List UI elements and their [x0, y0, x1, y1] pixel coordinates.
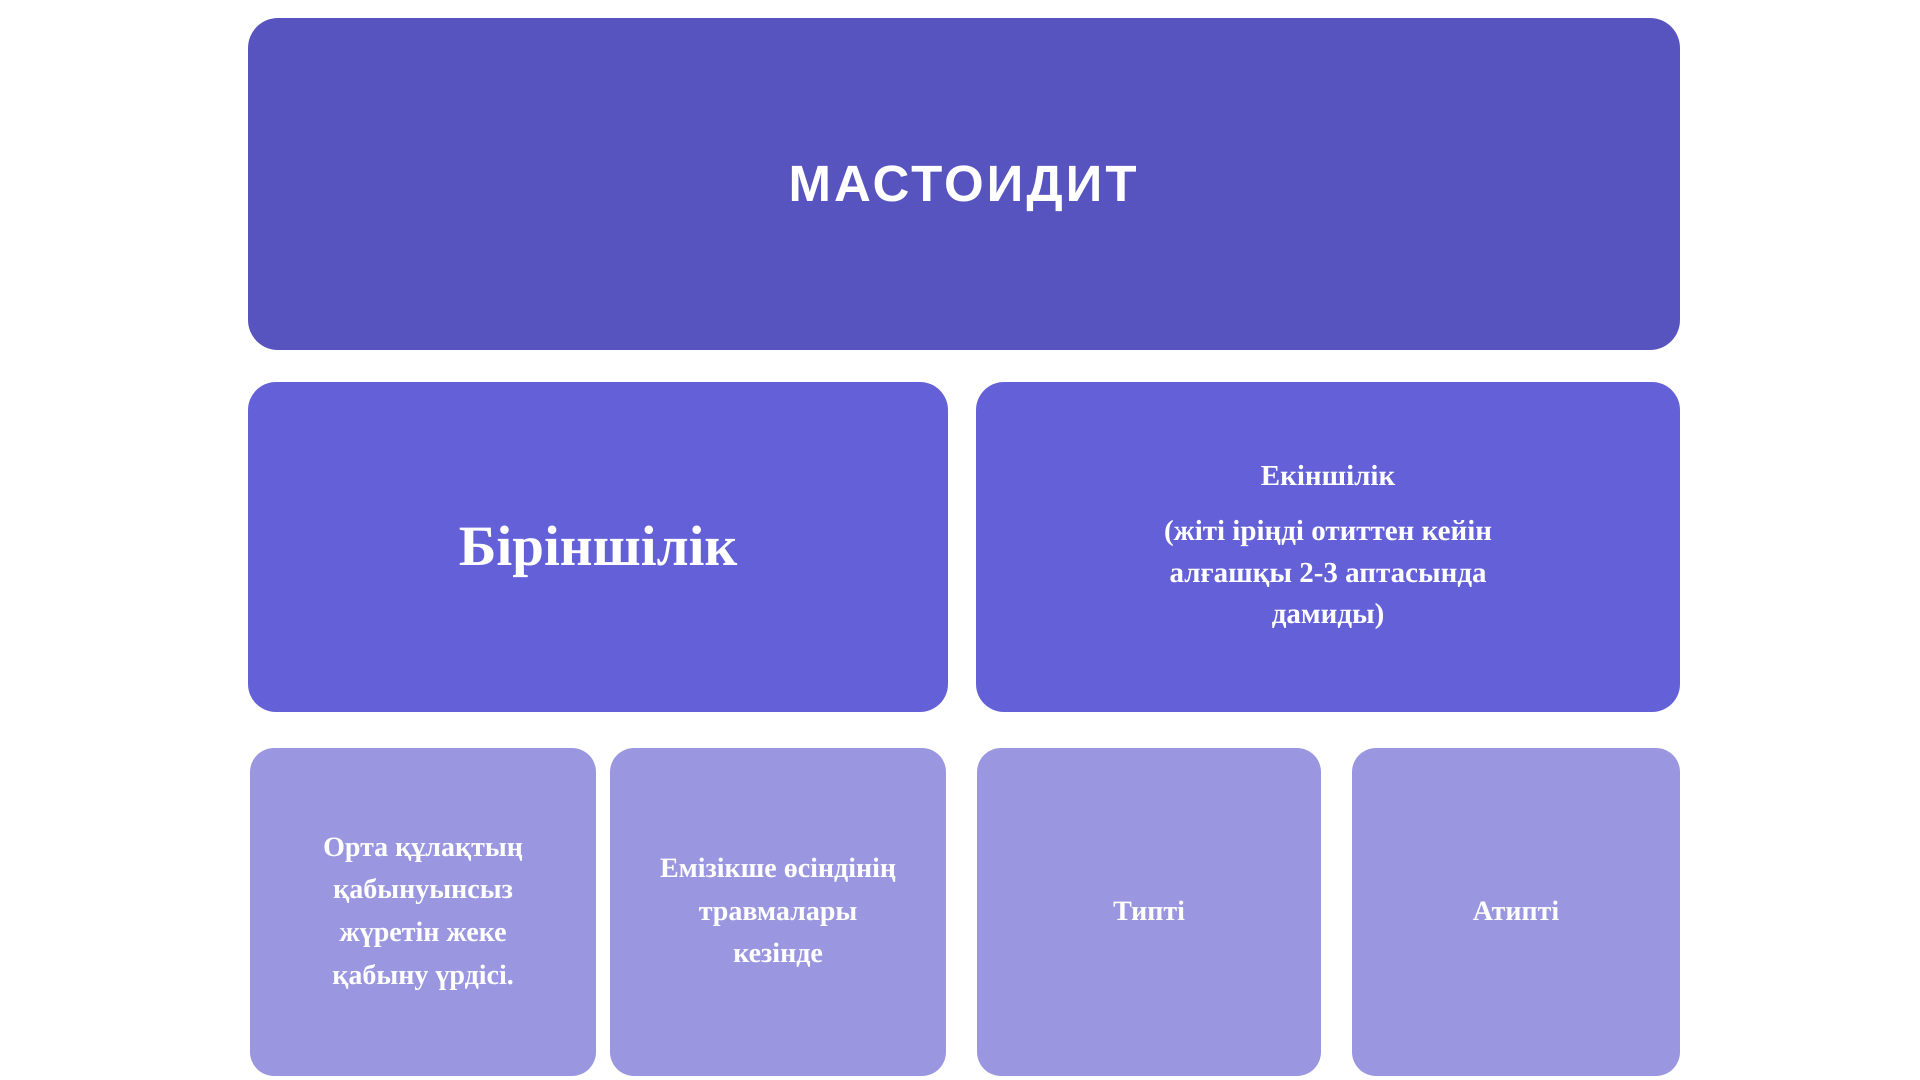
- leaf-node-3-label: Типті: [1113, 891, 1185, 934]
- leaf-node-4-label: Атипті: [1473, 891, 1559, 934]
- branch-node-secondary-sublabel: (жіті іріңді отиттен кейін алғашқы 2-3 а…: [1113, 511, 1543, 635]
- root-node-label: МАСТОИДИТ: [789, 154, 1140, 214]
- leaf-node-2: Емізікше өсіндінің травмалары кезінде: [610, 748, 946, 1076]
- root-node-mastoiditis: МАСТОИДИТ: [248, 18, 1680, 350]
- branch-node-primary: Біріншілік: [248, 382, 948, 712]
- leaf-node-1: Орта құлақтың қабынуынсыз жүретін жеке қ…: [250, 748, 596, 1076]
- leaf-node-1-label: Орта құлақтың қабынуынсыз жүретін жеке қ…: [297, 827, 549, 997]
- leaf-node-3: Типті: [977, 748, 1321, 1076]
- leaf-node-2-label: Емізікше өсіндінің травмалары кезінде: [652, 848, 904, 976]
- branch-node-secondary-label: Екіншілік: [1261, 459, 1395, 493]
- mastoiditis-classification-diagram: МАСТОИДИТ Біріншілік Екіншілік (жіті ірі…: [0, 0, 1920, 1080]
- branch-node-primary-label: Біріншілік: [459, 513, 738, 580]
- branch-node-secondary: Екіншілік (жіті іріңді отиттен кейін алғ…: [976, 382, 1680, 712]
- leaf-node-4: Атипті: [1352, 748, 1680, 1076]
